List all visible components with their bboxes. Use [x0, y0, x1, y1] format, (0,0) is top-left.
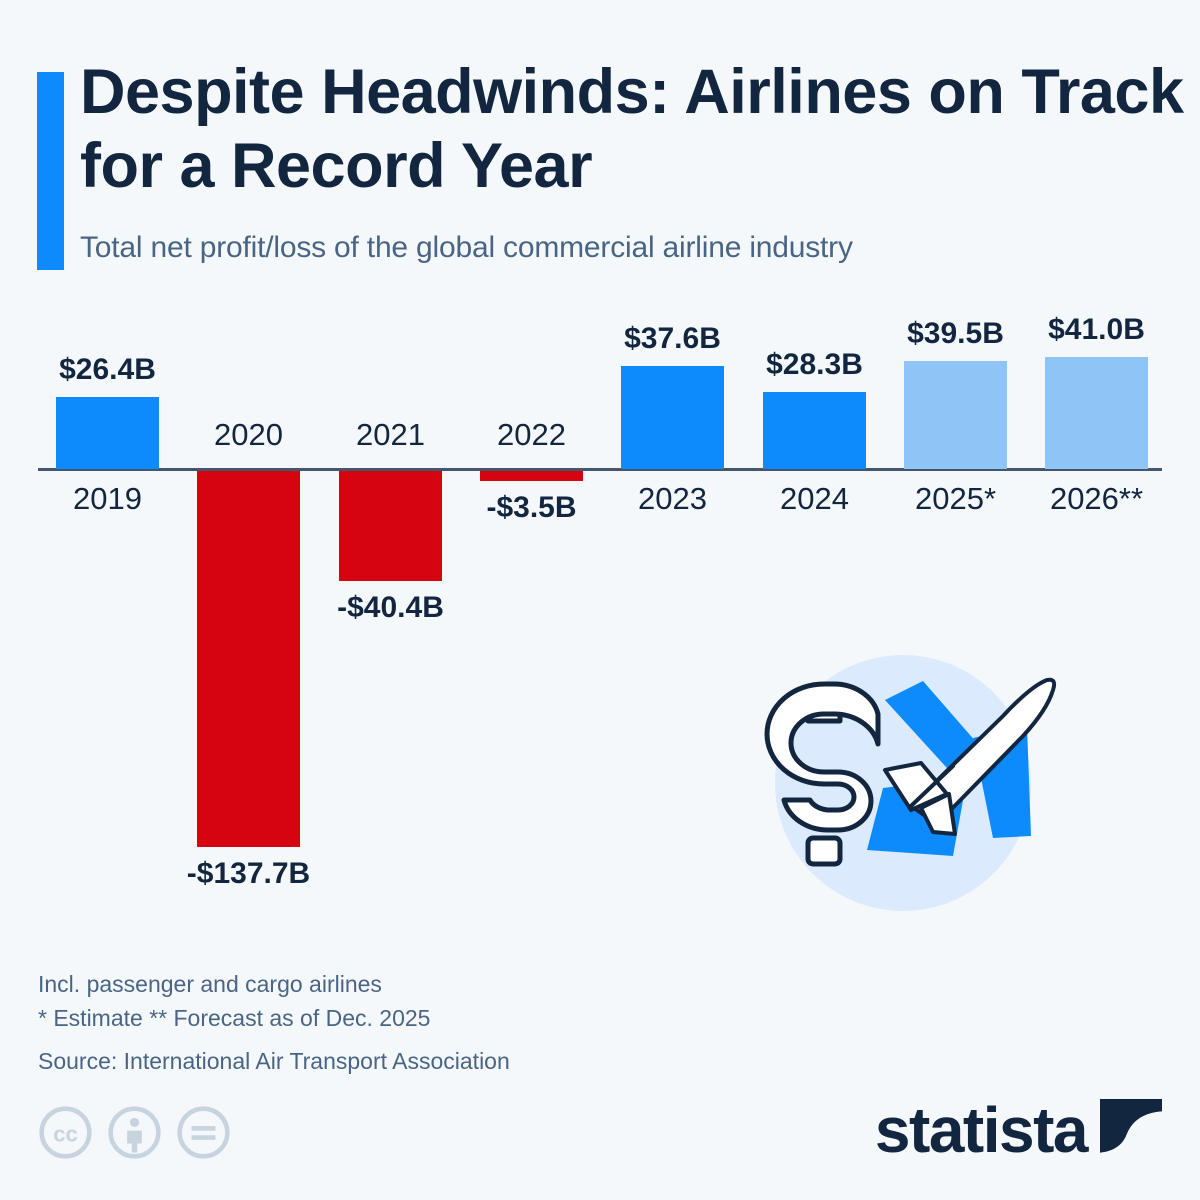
bar-2020	[197, 471, 300, 847]
footnote-scope: Incl. passenger and cargo airlines	[38, 968, 738, 1002]
bar-2024	[763, 392, 866, 469]
bar-value-label-2020: -$137.7B	[157, 857, 340, 891]
bar-2025x	[904, 361, 1007, 469]
dollar-sign-airplane-illustration	[735, 638, 1075, 928]
footnote-source: Source: International Air Transport Asso…	[38, 1045, 738, 1079]
bar-value-label-2026xx: $41.0B	[1005, 313, 1188, 347]
bar-2023	[621, 366, 724, 469]
footnote-marks: * Estimate ** Forecast as of Dec. 2025	[38, 1002, 738, 1036]
cc-nd-no-derivatives-icon[interactable]	[176, 1105, 231, 1160]
statista-logo-mark	[1100, 1099, 1162, 1161]
bar-value-label-2019: $26.4B	[16, 353, 199, 387]
cc-by-attribution-icon[interactable]	[107, 1105, 162, 1160]
creative-commons-license: cc	[38, 1105, 231, 1160]
bar-category-label-2026xx: 2026**	[1005, 481, 1188, 517]
bar-2022	[480, 471, 583, 481]
svg-text:cc: cc	[53, 1122, 77, 1147]
bar-value-label-2024: $28.3B	[723, 348, 906, 382]
statista-wordmark: statista	[875, 1098, 1087, 1162]
footnotes: Incl. passenger and cargo airlines * Est…	[38, 968, 738, 1078]
bar-2026xx	[1045, 357, 1148, 469]
bar-2019	[56, 397, 159, 469]
bar-category-label-2022: 2022	[440, 417, 623, 453]
bar-value-label-2021: -$40.4B	[299, 591, 482, 625]
bar-category-label-2019: 2019	[16, 481, 199, 517]
cc-icon[interactable]: cc	[38, 1105, 93, 1160]
bar-2021	[339, 471, 442, 581]
statista-logo[interactable]: statista	[875, 1098, 1162, 1162]
